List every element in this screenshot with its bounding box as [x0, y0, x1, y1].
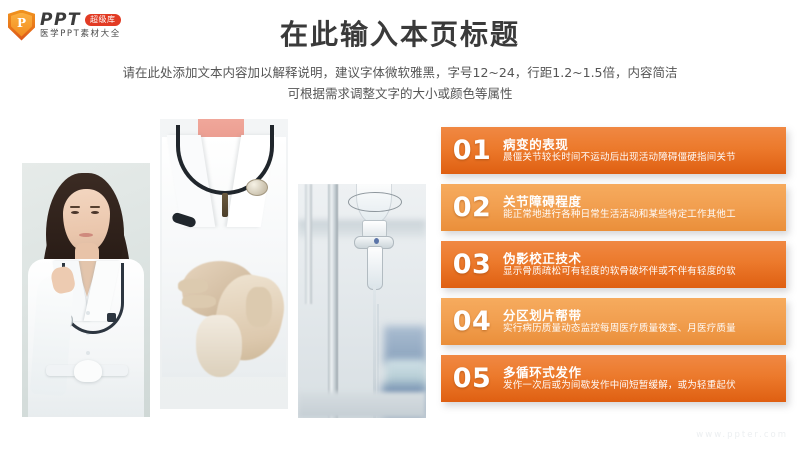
- subtitle-line-1: 请在此处添加文本内容加以解释说明，建议字体微软雅黑，字号12~24，行距1.2~…: [0, 63, 800, 84]
- list-item-04[interactable]: 04 分区划片帮带 实行病历质量动态监控每周医疗质量夜查、月医疗质量: [441, 298, 786, 345]
- list-item-title: 伪影校正技术: [503, 251, 778, 267]
- photo-2-finger: [178, 279, 208, 293]
- photo-2-finger: [246, 287, 272, 327]
- page-title: 在此输入本页标题: [0, 18, 800, 52]
- photo-1-eye-left: [71, 211, 79, 214]
- photo-female-doctor-portrait: [22, 163, 150, 417]
- photo-3-drip-chamber: [367, 246, 383, 290]
- photo-2-glove-fold: [196, 315, 242, 377]
- photo-1-mouth: [79, 233, 93, 237]
- list-item-text-group: 病变的表现 晨僵关节较长时间不运动后出现活动障碍僵硬指间关节: [503, 137, 786, 165]
- list-item-text-group: 分区划片帮带 实行病历质量动态监控每周医疗质量夜查、月医疗质量: [503, 308, 786, 336]
- list-item-title: 分区划片帮带: [503, 308, 778, 324]
- photo-1-belt-knot: [74, 360, 102, 382]
- list-item-number: 01: [441, 137, 503, 164]
- photo-1-stethoscope-tip: [107, 313, 116, 322]
- list-item-title: 多循环式发作: [503, 365, 778, 381]
- list-item-desc: 能正常地进行各种日常生活活动和某些特定工作其他工: [503, 209, 778, 221]
- list-item-desc: 实行病历质量动态监控每周医疗质量夜查、月医疗质量: [503, 323, 778, 335]
- photo-1-eye-right: [91, 211, 99, 214]
- photo-3-valve-indicator: [374, 238, 379, 244]
- list-item-number: 03: [441, 251, 503, 278]
- list-item-title: 病变的表现: [503, 137, 778, 153]
- photo-1-canvas: [22, 163, 150, 417]
- feature-list: 01 病变的表现 晨僵关节较长时间不运动后出现活动障碍僵硬指间关节 02 关节障…: [441, 127, 786, 412]
- photo-1-brow-left: [70, 206, 80, 208]
- list-item-desc: 晨僵关节较长时间不运动后出现活动障碍僵硬指间关节: [503, 152, 778, 164]
- list-item-02[interactable]: 02 关节障碍程度 能正常地进行各种日常生活活动和某些特定工作其他工: [441, 184, 786, 231]
- subtitle-line-2: 可根据需求调整文字的大小或颜色等属性: [0, 84, 800, 105]
- photo-2-finger: [182, 295, 216, 308]
- photo-3-floor: [298, 392, 426, 418]
- list-item-number: 04: [441, 308, 503, 335]
- list-item-desc: 发作一次后或为间歇发作中间短暂缓解，或为轻重起伏: [503, 380, 778, 392]
- footer-watermark: www.ppter.com: [696, 430, 788, 440]
- photo-doctor-gloves: [160, 119, 288, 409]
- list-item-text-group: 多循环式发作 发作一次后或为间歇发作中间短暂缓解，或为轻重起伏: [503, 365, 786, 393]
- photo-1-button: [86, 351, 90, 355]
- list-item-text-group: 关节障碍程度 能正常地进行各种日常生活活动和某些特定工作其他工: [503, 194, 786, 222]
- photo-2-pocket-pen: [222, 193, 228, 217]
- photo-3-canvas: [298, 184, 426, 418]
- list-item-title: 关节障碍程度: [503, 194, 778, 210]
- list-item-03[interactable]: 03 伪影校正技术 显示骨质疏松可有轻度的软骨破坏伴或不伴有轻度的软: [441, 241, 786, 288]
- photo-1-brow-right: [90, 206, 100, 208]
- list-item-text-group: 伪影校正技术 显示骨质疏松可有轻度的软骨破坏伴或不伴有轻度的软: [503, 251, 786, 279]
- photo-3-pole-secondary: [305, 184, 312, 304]
- list-item-number: 02: [441, 194, 503, 221]
- photo-2-stethoscope-bell: [246, 179, 268, 196]
- list-item-01[interactable]: 01 病变的表现 晨僵关节较长时间不运动后出现活动障碍僵硬指间关节: [441, 127, 786, 174]
- page-subtitle: 请在此处添加文本内容加以解释说明，建议字体微软雅黑，字号12~24，行距1.2~…: [0, 63, 800, 104]
- photo-3-iv-pole: [328, 184, 338, 418]
- list-item-number: 05: [441, 365, 503, 392]
- list-item-desc: 显示骨质疏松可有轻度的软骨破坏伴或不伴有轻度的软: [503, 266, 778, 278]
- photo-3-background-equipment: [384, 326, 426, 364]
- photo-2-canvas: [160, 119, 288, 409]
- photo-iv-drip: [298, 184, 426, 418]
- list-item-05[interactable]: 05 多循环式发作 发作一次后或为间歇发作中间短暂缓解，或为轻重起伏: [441, 355, 786, 402]
- photo-3-hanger-ring: [348, 192, 402, 212]
